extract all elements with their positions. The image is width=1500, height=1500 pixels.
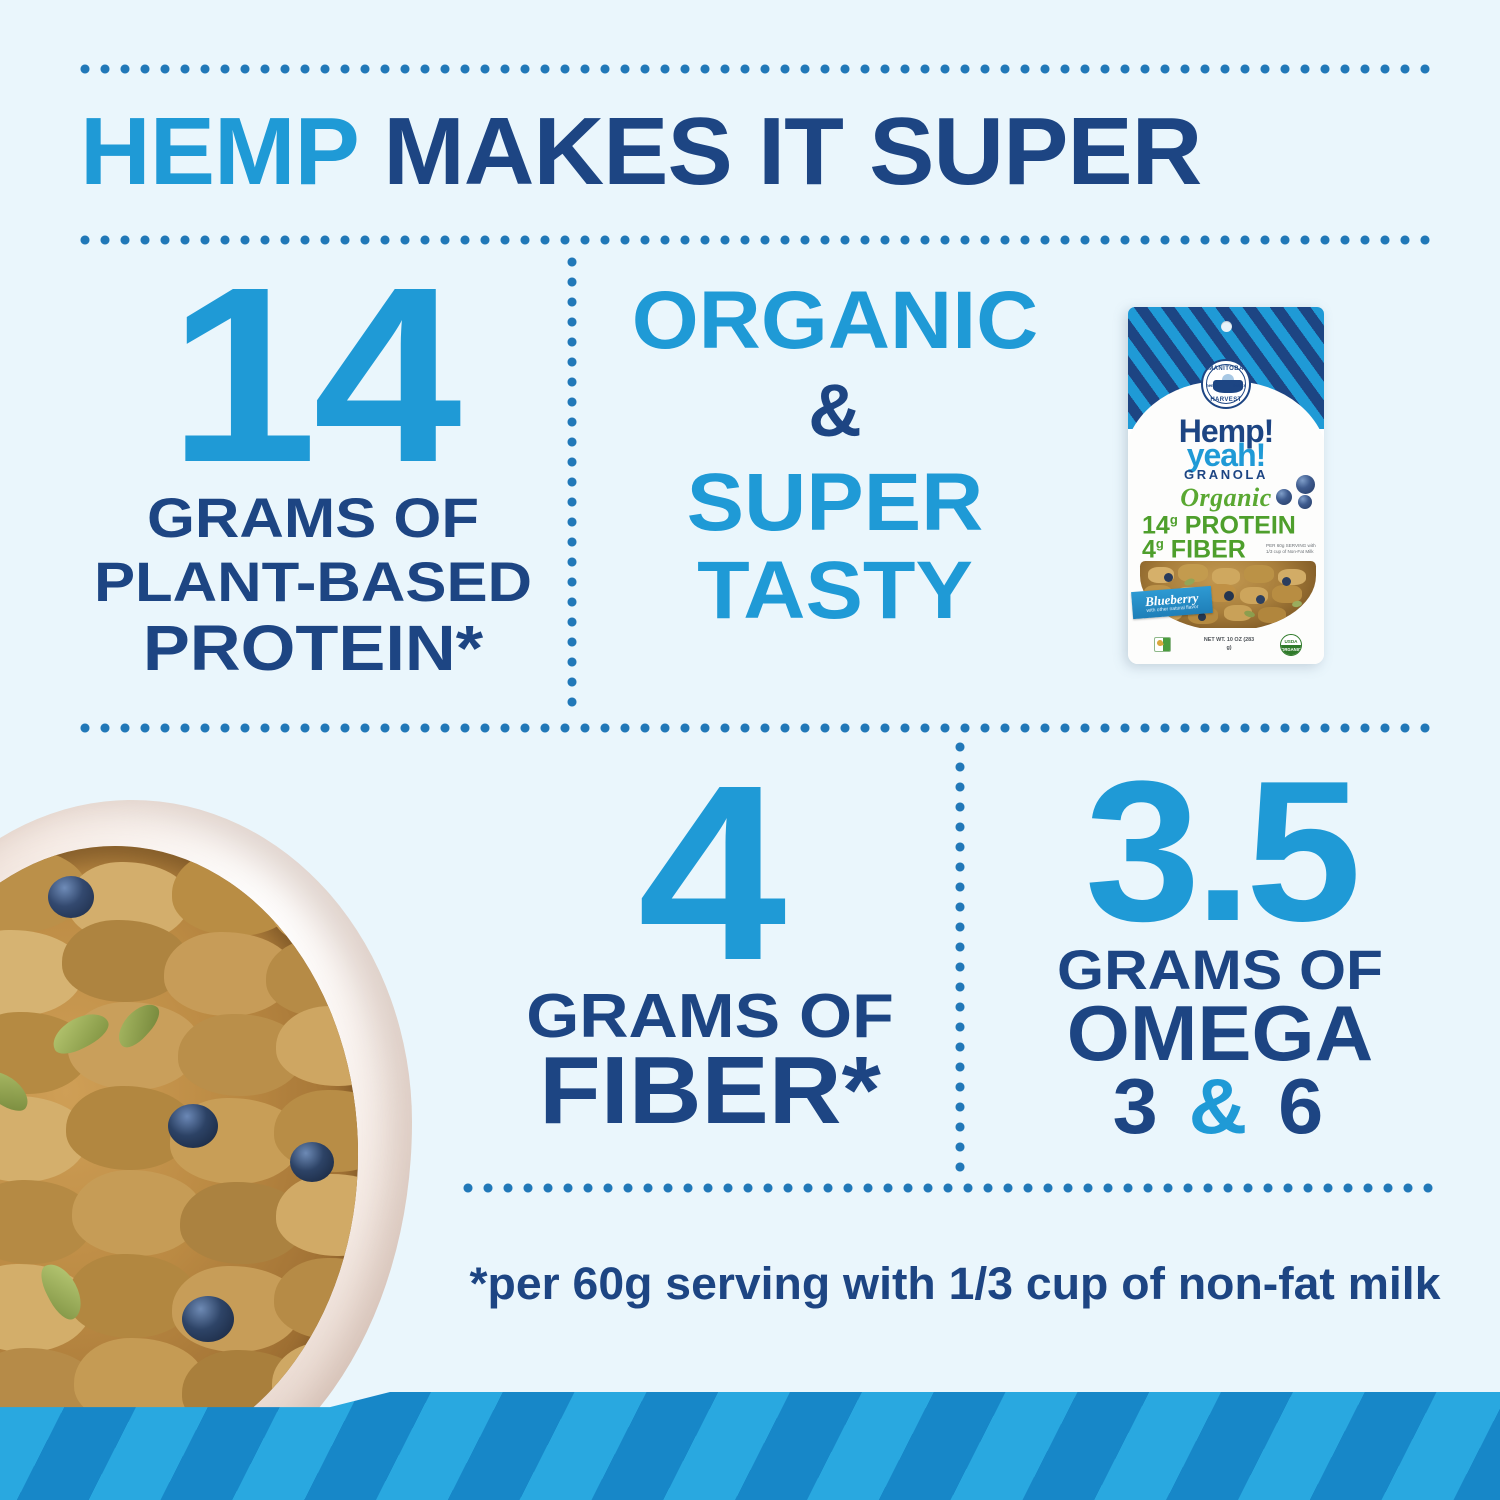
blueberry-icon-cluster xyxy=(1270,475,1318,515)
stat-card-protein: 14 GRAMS OF PLANT-BASED PROTEIN* xyxy=(78,270,548,678)
organic-line2: SUPER xyxy=(588,464,1082,543)
stat-card-organic: ORGANIC & SUPER TASTY xyxy=(600,282,1070,631)
omega-ampersand: & xyxy=(1189,1062,1252,1150)
stat-label-fiber-line2: FIBER* xyxy=(458,1047,962,1135)
package-footer: NET WT. 10 OZ (283 g) USDA ORGANIC xyxy=(1128,628,1324,664)
stat-label-omega-line3: 3 & 6 xyxy=(991,1071,1449,1143)
stat-value-fiber: 4 xyxy=(453,768,967,978)
omega-number-6: 6 xyxy=(1278,1062,1327,1150)
granola-bowl-photo xyxy=(0,800,412,1500)
stat-card-fiber: 4 GRAMS OF FIBER* xyxy=(470,768,950,1135)
stat-value-omega: 3.5 xyxy=(991,768,1449,936)
package-net-weight: NET WT. 10 OZ (283 g) xyxy=(1202,637,1256,653)
stat-label-protein-line1: GRAMS OF xyxy=(55,492,572,544)
blueberry-icon xyxy=(182,1296,234,1342)
organic-ampersand: & xyxy=(600,375,1070,446)
dotted-rule-bottom xyxy=(463,1183,1433,1193)
serving-footnote: *per 60g serving with 1/3 cup of non-fat… xyxy=(445,1258,1465,1310)
bowl-contents xyxy=(0,846,358,1462)
stat-label-protein-line3: PROTEIN* xyxy=(55,619,572,678)
dotted-rule-top xyxy=(80,64,1432,74)
diagonal-stripe-band xyxy=(0,1392,1500,1500)
organic-line3: TASTY xyxy=(588,552,1082,631)
logo-side-left: hemp xyxy=(1206,383,1217,388)
package-fiber-claim: 4g FIBER xyxy=(1142,537,1246,562)
manitoba-harvest-logo-icon: MANITOBA HARVEST hemp hearts xyxy=(1201,359,1251,409)
stat-label-omega-line2: OMEGA xyxy=(991,998,1449,1070)
page-title: HEMP MAKES IT SUPER xyxy=(80,104,1467,200)
product-package-image: MANITOBA HARVEST hemp hearts Hemp! yeah!… xyxy=(1128,307,1324,664)
blueberry-icon xyxy=(168,1104,218,1148)
headline-highlight: HEMP xyxy=(80,98,357,205)
headline-rest: MAKES IT SUPER xyxy=(383,98,1201,205)
package-serving-fineprint: PER 60g SERVING with 1/3 cup of Non-Fat … xyxy=(1266,543,1318,554)
logo-side-right: hearts xyxy=(1233,383,1246,388)
dotted-rule-middle xyxy=(80,723,1432,733)
package-fiber-unit: g xyxy=(1156,536,1164,551)
package-hang-hole xyxy=(1221,321,1232,332)
omega-number-3: 3 xyxy=(1113,1062,1162,1150)
blueberry-icon xyxy=(48,876,94,918)
stat-label-protein-line2: PLANT-BASED xyxy=(55,556,572,608)
butterfly-icon xyxy=(1156,639,1164,647)
stat-value-protein: 14 xyxy=(62,270,565,480)
logo-arc-bottom: HARVEST xyxy=(1203,397,1249,403)
usda-seal-bottom-text: ORGANIC xyxy=(1281,647,1301,652)
stat-card-omega: 3.5 GRAMS OF OMEGA 3 & 6 xyxy=(1000,768,1440,1143)
package-fiber-word: FIBER xyxy=(1164,535,1246,563)
organic-line1: ORGANIC xyxy=(588,282,1082,361)
usda-seal-top-text: USDA xyxy=(1281,639,1301,644)
non-gmo-badge-icon xyxy=(1154,637,1171,652)
usda-organic-seal-icon: USDA ORGANIC xyxy=(1280,634,1302,656)
package-body: MANITOBA HARVEST hemp hearts Hemp! yeah!… xyxy=(1128,307,1324,664)
package-protein-unit: g xyxy=(1170,512,1178,527)
logo-arc-top: MANITOBA xyxy=(1203,366,1249,372)
blueberry-icon xyxy=(290,1142,334,1182)
package-fiber-number: 4 xyxy=(1142,535,1156,563)
